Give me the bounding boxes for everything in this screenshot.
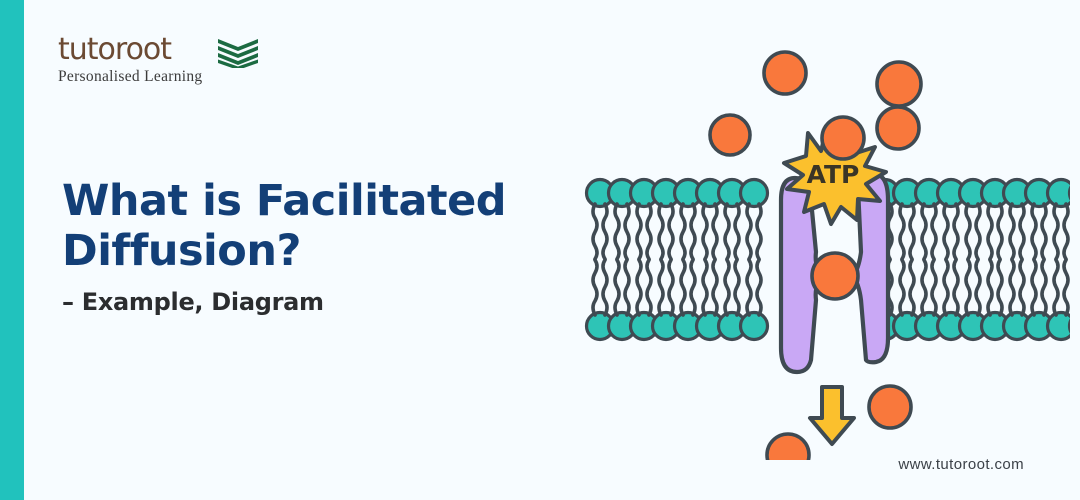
- molecule: [710, 115, 750, 155]
- transport-arrow-down-icon: [810, 387, 854, 444]
- page-title: What is Facilitated Diffusion?: [62, 176, 582, 276]
- molecule: [877, 107, 919, 149]
- molecule: [767, 434, 809, 460]
- page-title-line2: Diffusion?: [62, 226, 301, 276]
- molecule: [869, 386, 911, 428]
- logo-tagline: Personalised Learning: [58, 68, 238, 86]
- molecule: [822, 117, 864, 159]
- lipid-row-top-right: [872, 180, 1071, 260]
- page-subtitle: – Example, Diagram: [62, 288, 582, 316]
- lipid-row-bottom-left: [587, 260, 768, 340]
- page-title-line1: What is Facilitated: [62, 176, 506, 226]
- facilitated-diffusion-diagram: ATP: [570, 20, 1070, 460]
- lipid-row-top-left: [587, 180, 768, 260]
- brand-logo[interactable]: tutoroot Personalised Learning: [58, 34, 238, 92]
- headline-block: What is Facilitated Diffusion? – Example…: [62, 176, 582, 316]
- book-chevron-icon: [216, 38, 260, 68]
- left-accent-bar: [0, 0, 24, 500]
- logo-wordmark: tutoroot: [58, 34, 238, 66]
- membrane-left: [587, 180, 768, 340]
- membrane-right: [872, 180, 1071, 340]
- molecule: [764, 52, 806, 94]
- lipid-row-bottom-right: [872, 260, 1071, 340]
- molecule-in-channel: [812, 253, 858, 299]
- molecule: [877, 62, 921, 106]
- atp-label: ATP: [807, 160, 860, 189]
- banner-root: tutoroot Personalised Learning What is F…: [0, 0, 1080, 500]
